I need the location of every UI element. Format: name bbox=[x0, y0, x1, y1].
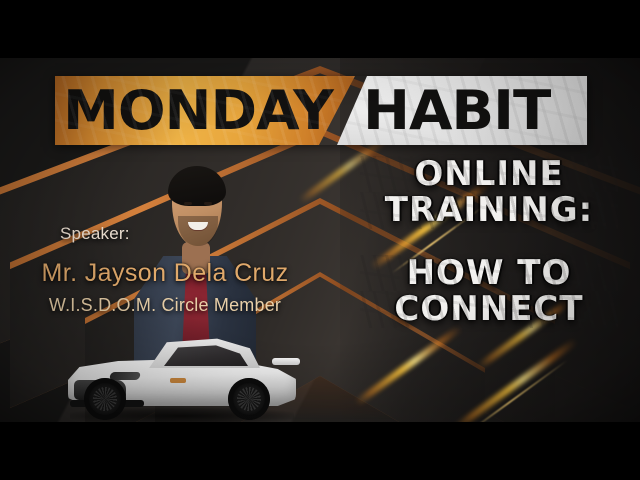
letterbox-bottom bbox=[0, 422, 640, 480]
portrait-beard bbox=[178, 216, 218, 246]
car-wheel-rear bbox=[228, 378, 270, 420]
car-spoiler bbox=[272, 358, 300, 365]
logo-habit-block: HABIT bbox=[337, 76, 587, 145]
car-side-vent bbox=[170, 378, 186, 383]
video-frame: MONDAY HABIT Speaker: Mr. Jayson Dela Cr… bbox=[0, 0, 640, 480]
portrait-hair bbox=[168, 166, 226, 206]
logo-word-monday: MONDAY bbox=[63, 84, 333, 138]
letterbox-top bbox=[0, 0, 640, 58]
portrait-eye-left bbox=[184, 202, 192, 205]
logo-monday-block: MONDAY bbox=[55, 76, 355, 145]
portrait-neck bbox=[182, 242, 210, 274]
portrait-eye-right bbox=[204, 202, 212, 205]
brand-logo-banner: MONDAY HABIT bbox=[55, 76, 588, 145]
slide-stage: MONDAY HABIT Speaker: Mr. Jayson Dela Cr… bbox=[0, 58, 640, 422]
car-headlight bbox=[109, 372, 141, 380]
car-wheel-front bbox=[84, 378, 126, 420]
logo-word-habit: HABIT bbox=[363, 84, 550, 138]
sports-car-graphic bbox=[62, 330, 302, 422]
